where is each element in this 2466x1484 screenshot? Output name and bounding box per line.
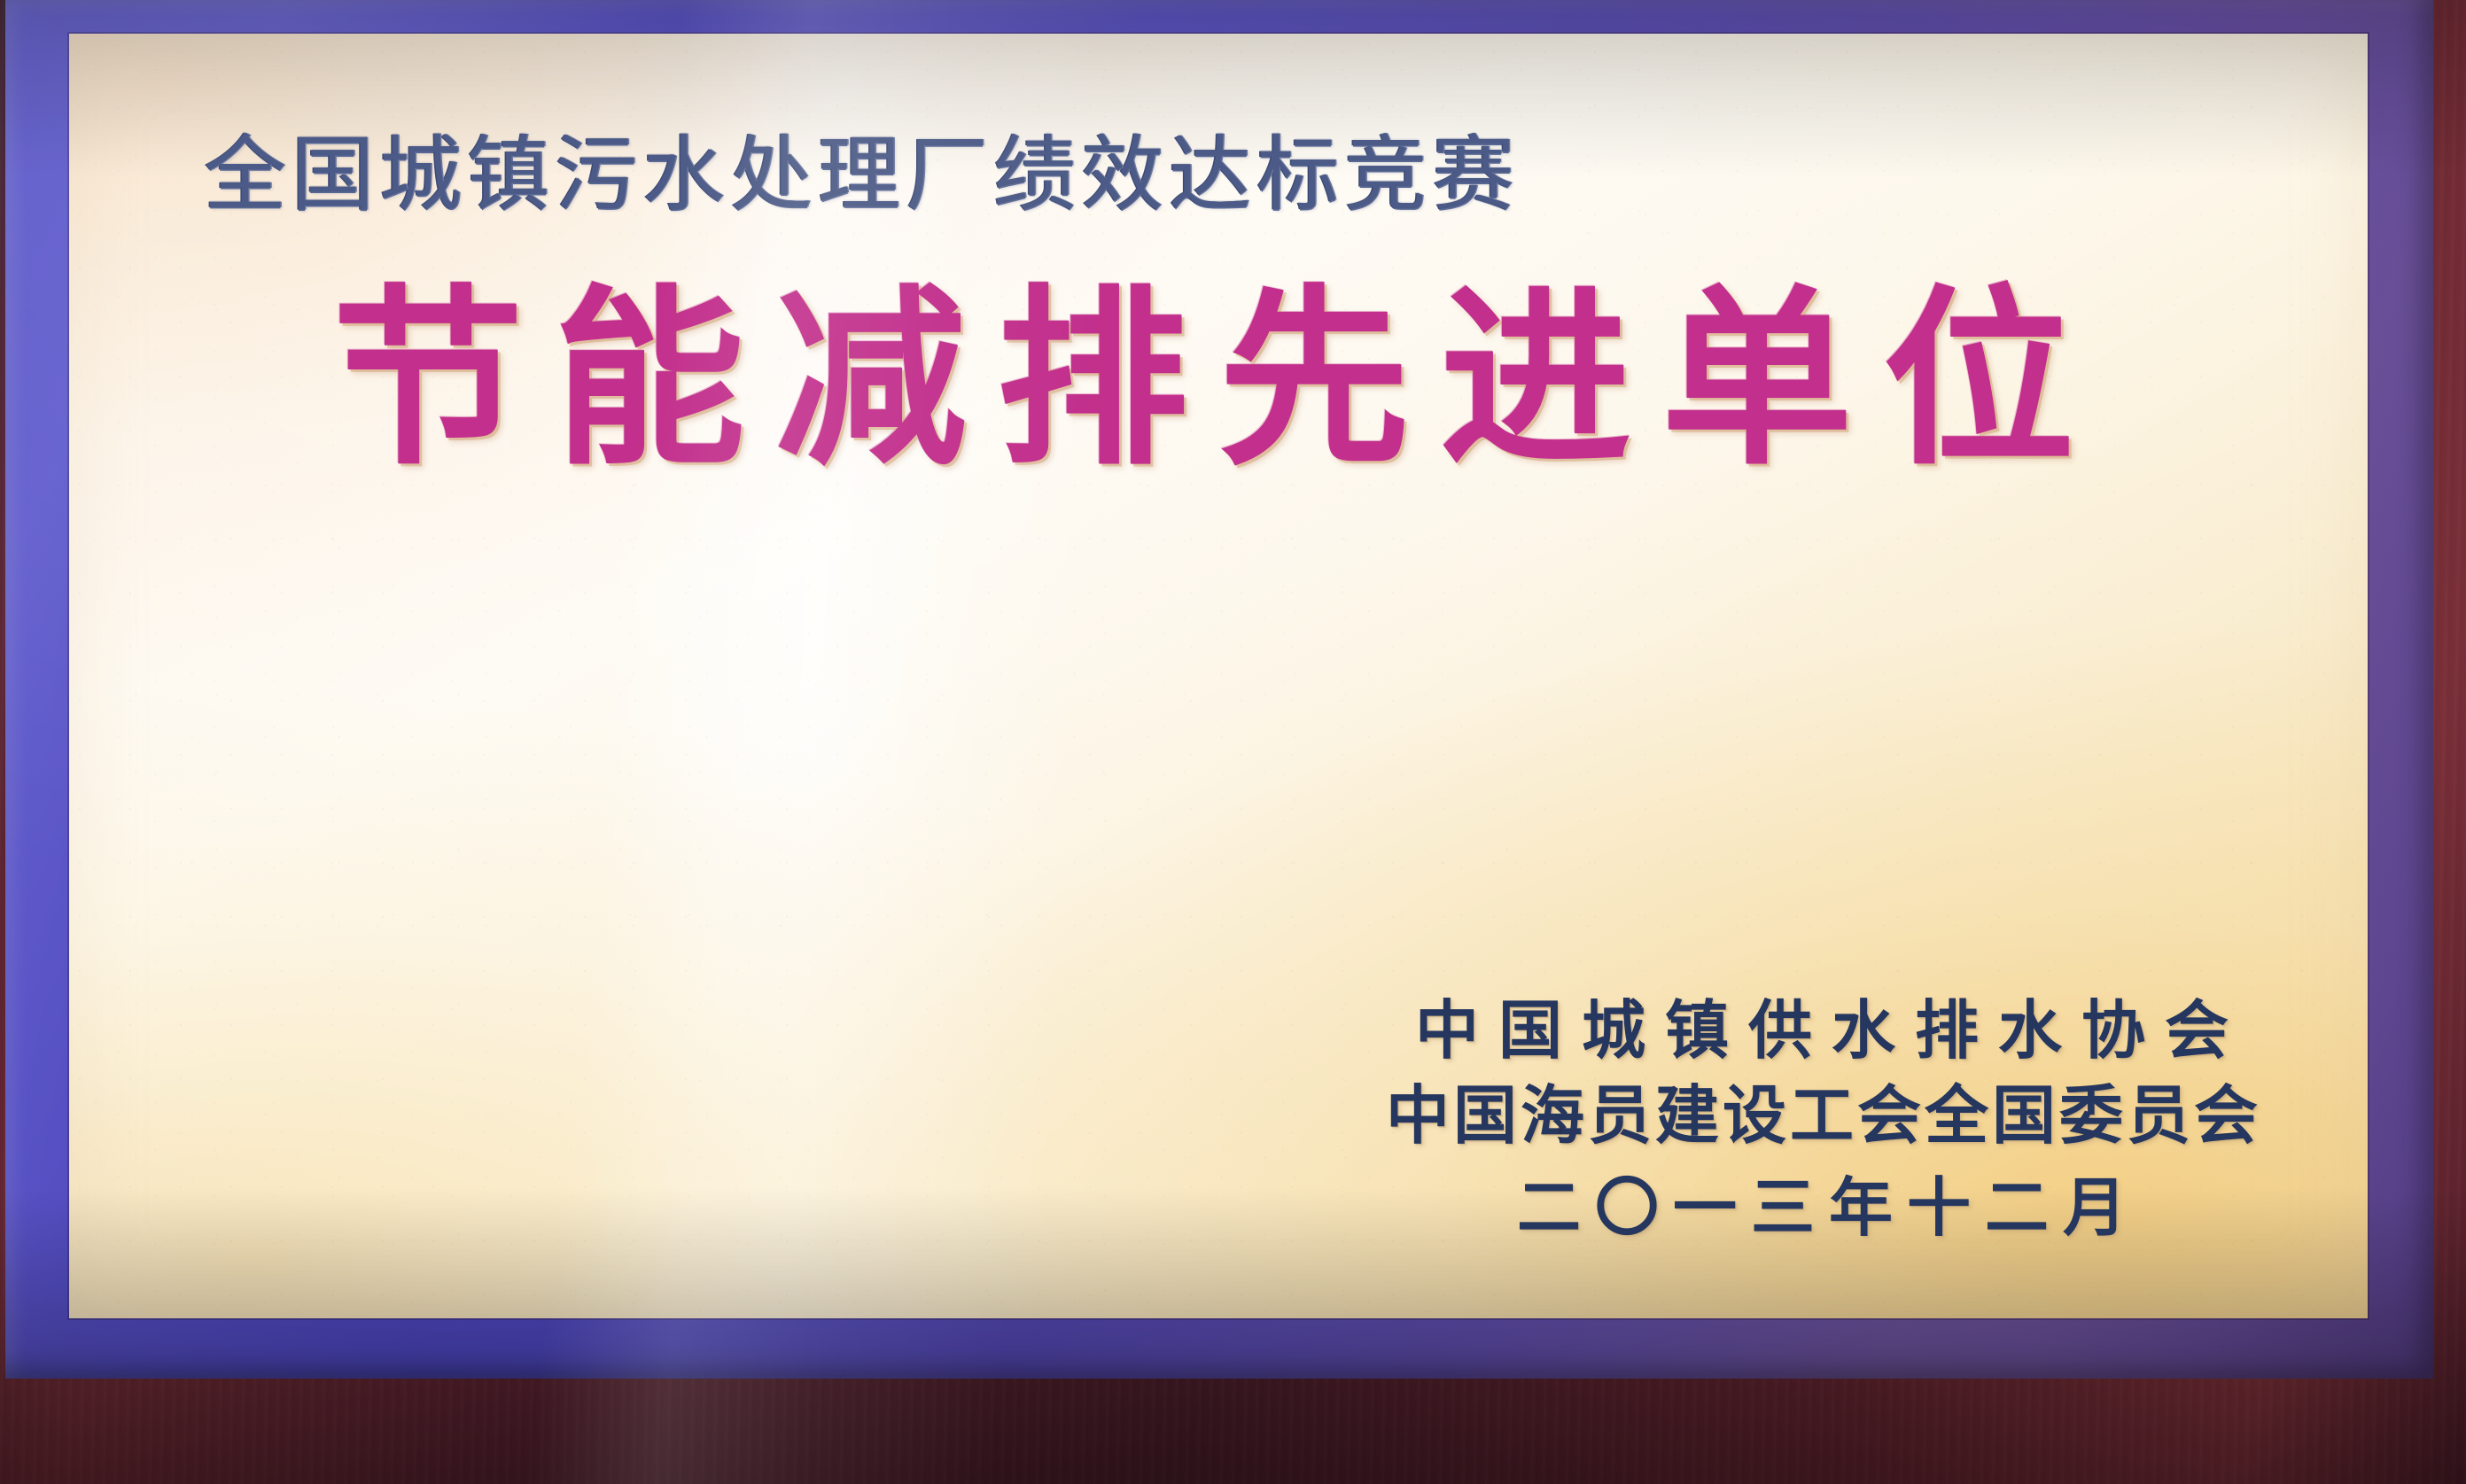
surface-ink-speck <box>1558 1126 1562 1134</box>
award-title-text: 节能减排先进单位 <box>140 284 2297 476</box>
issuer-organization-primary: 中国城镇供水排水协会 <box>1382 998 2261 1062</box>
award-date-text: 二〇一三年十二月 <box>1382 1176 2261 1239</box>
issuer-signature-block: 中国城镇供水排水协会 中国海员建设工会全国委员会 二〇一三年十二月 <box>1382 998 2261 1239</box>
issuer-organization-secondary: 中国海员建设工会全国委员会 <box>1382 1084 2261 1147</box>
award-plaque-photo: 全国城镇污水处理厂绩效达标竞赛 节能减排先进单位 中国城镇供水排水协会 中国海员… <box>0 0 2466 1484</box>
competition-header-text: 全国城镇污水处理厂绩效达标竞赛 <box>204 134 1520 216</box>
plaque-face: 全国城镇污水处理厂绩效达标竞赛 节能减排先进单位 中国城镇供水排水协会 中国海员… <box>69 34 2368 1318</box>
